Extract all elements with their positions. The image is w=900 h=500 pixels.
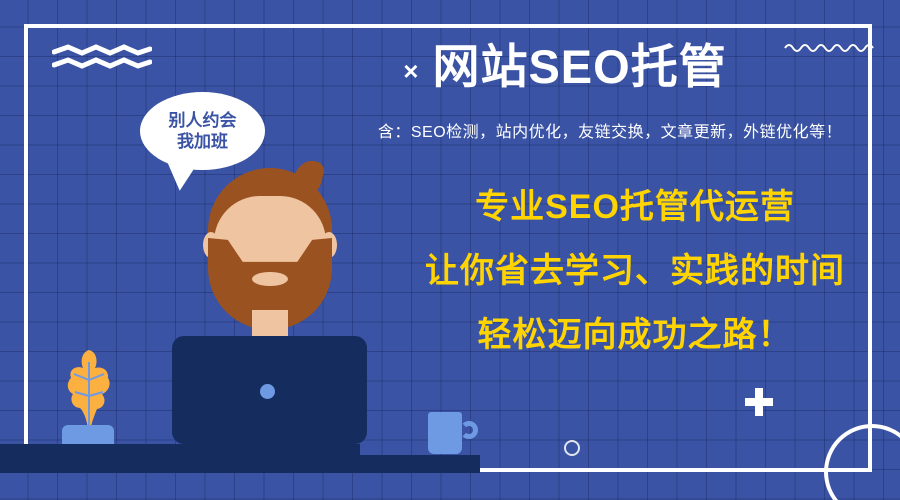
highlight-line: 让你省去学习、实践的时间 bbox=[390, 254, 880, 288]
plus-icon bbox=[745, 388, 773, 416]
highlight-line: 专业SEO托管代运营 bbox=[390, 190, 880, 224]
speech-bubble-line-2: 我加班 bbox=[177, 131, 228, 152]
x-mark-icon: × bbox=[403, 58, 418, 84]
mouth bbox=[252, 272, 288, 286]
coffee-mug-icon bbox=[428, 412, 462, 454]
wave-lines-icon bbox=[52, 44, 152, 70]
highlight-list: 专业SEO托管代运营 让你省去学习、实践的时间 轻松迈向成功之路！ bbox=[390, 190, 880, 352]
speech-bubble: 别人约会 我加班 bbox=[140, 92, 265, 170]
coffee-mug-handle bbox=[460, 421, 478, 439]
title-row: × 网站SEO托管 bbox=[330, 42, 800, 91]
laptop-logo-dot bbox=[260, 384, 275, 399]
speech-bubble-line-1: 别人约会 bbox=[169, 110, 237, 131]
seo-poster: × 网站SEO托管 含：SEO检测，站内优化，友链交换，文章更新，外链优化等！ … bbox=[0, 0, 900, 500]
subtitle: 含：SEO检测，站内优化，友链交换，文章更新，外链优化等！ bbox=[330, 118, 890, 142]
highlight-line: 轻松迈向成功之路！ bbox=[390, 318, 880, 352]
page-title: 网站SEO托管 bbox=[432, 42, 726, 91]
circle-outline-icon bbox=[564, 440, 580, 456]
desk-shape bbox=[0, 455, 480, 473]
potted-plant-icon bbox=[64, 348, 114, 430]
